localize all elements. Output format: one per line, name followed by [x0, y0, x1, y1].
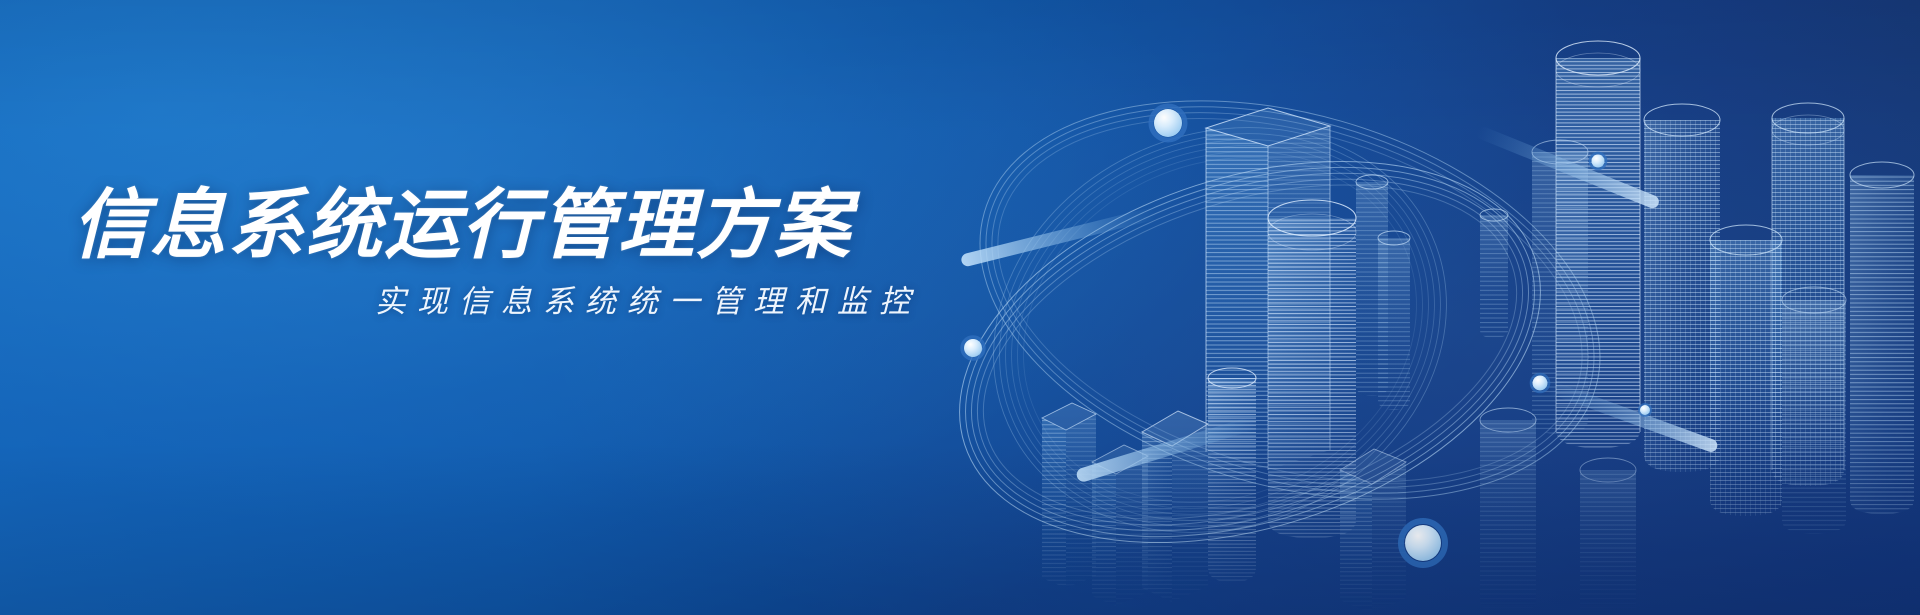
tower-fg-right	[1340, 449, 1406, 614]
tower-far-right-b	[1850, 162, 1914, 514]
banner-title: 信息系统运行管理方案	[72, 186, 852, 265]
tower-right-cluster-a	[1710, 225, 1782, 516]
banner-root: 信息系统运行管理方案 实现信息系统统一管理和监控	[0, 0, 1920, 615]
dot-top-left	[1151, 106, 1185, 140]
tower-fg-a	[1042, 403, 1096, 588]
dot-far-right	[1639, 404, 1651, 416]
tower-thin-b	[1378, 231, 1410, 410]
dot-top-right	[1590, 153, 1606, 169]
banner-subtitle: 实现信息系统统一管理和监控	[375, 276, 921, 321]
tower-right-cluster-b	[1782, 287, 1846, 534]
banner-text-block: 信息系统运行管理方案 实现信息系统统一管理和监控	[0, 0, 1050, 615]
dot-inner-right	[1531, 374, 1549, 392]
dot-bottom-right	[1401, 521, 1445, 565]
tower-lowrise-b	[1580, 458, 1636, 614]
tower-tall-center-b	[1644, 104, 1720, 472]
tower-lowrise-a	[1480, 408, 1536, 614]
wireframe-city-artwork	[920, 0, 1920, 615]
